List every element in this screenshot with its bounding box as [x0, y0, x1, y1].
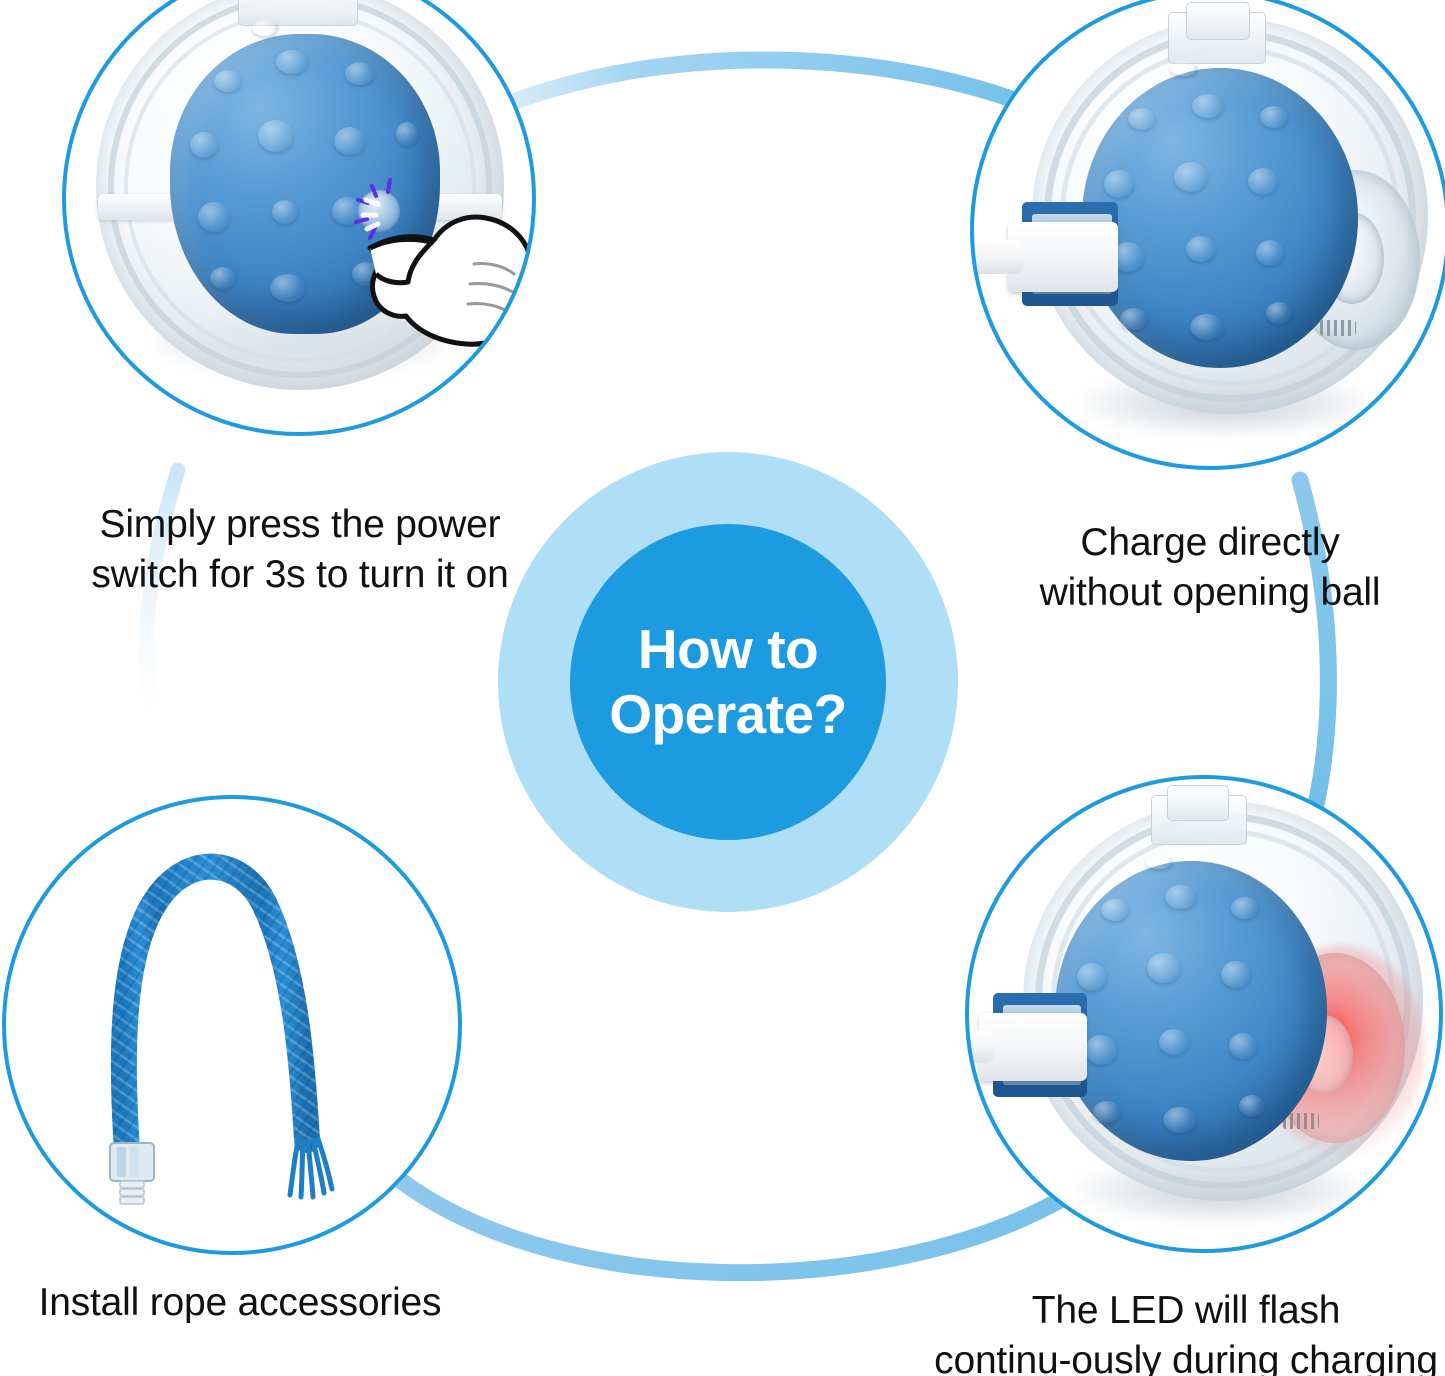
ball-bump — [1174, 162, 1208, 192]
caption-power-on: Simply press the power switch for 3s to … — [70, 500, 530, 600]
ball-bump — [214, 70, 242, 92]
photo-led-flash — [965, 775, 1443, 1253]
ball-bump — [258, 120, 294, 152]
arc-power-to-charge — [432, 60, 1085, 140]
usb-plug-icon — [1008, 222, 1118, 292]
ball-bump — [1192, 94, 1224, 118]
ball-bump — [1101, 899, 1129, 921]
usb-cable — [970, 240, 1024, 274]
how-to-operate-infographic: Simply press the power switch for 3s to … — [0, 0, 1445, 1376]
usb-cable — [965, 1031, 995, 1063]
hang-loop — [1167, 785, 1229, 821]
caption-rope: Install rope accessories — [20, 1278, 460, 1328]
ball-bump — [1229, 1033, 1257, 1059]
vent-grill — [1320, 320, 1356, 336]
ball-bump — [1239, 1095, 1265, 1117]
ball-bump — [1256, 240, 1284, 266]
ball-bump — [1147, 953, 1181, 983]
photo-power-on — [62, 0, 536, 436]
caption-led-flash: The LED will flash continu-ously during … — [930, 1286, 1442, 1376]
hub-title: How to Operate? — [609, 617, 846, 747]
ball-bump — [1104, 170, 1134, 198]
ball-bump — [1248, 168, 1278, 195]
rope-icon — [2, 795, 462, 1255]
usb-plug-icon — [979, 1013, 1087, 1081]
hub-inner-circle: How to Operate? — [570, 524, 886, 840]
ball-bump — [345, 62, 375, 85]
ball-bump — [276, 50, 308, 74]
ball-bump — [190, 132, 218, 158]
ball-bump — [1145, 855, 1173, 869]
ball-bump — [1266, 302, 1292, 324]
photo-rope — [2, 795, 462, 1255]
hang-loop — [1186, 2, 1250, 40]
ball-bump — [252, 20, 278, 36]
ball-bump — [334, 127, 366, 155]
ball-bump — [1163, 1107, 1197, 1133]
ball-bump — [1221, 961, 1251, 988]
ball-bump — [270, 274, 306, 302]
ball-bump — [1260, 106, 1288, 128]
ball-bump — [1093, 1101, 1121, 1123]
screw-connector-icon — [110, 1143, 154, 1204]
ball-bump — [1231, 897, 1259, 919]
ball-bump — [1085, 1035, 1117, 1065]
ball-bump — [1159, 1029, 1189, 1055]
pointing-hand-icon — [362, 192, 536, 372]
ball-bump — [1128, 108, 1156, 130]
ball-bump — [1186, 236, 1216, 262]
ball-bump — [1077, 963, 1107, 991]
photo-charge — [970, 0, 1445, 470]
rope-tassel — [290, 1139, 332, 1197]
ball-bump — [210, 267, 236, 289]
arc-rope-to-led — [400, 1180, 1060, 1273]
caption-charge: Charge directly without opening ball — [1000, 518, 1420, 618]
ball-bump — [1170, 62, 1198, 76]
ball-bump — [198, 202, 230, 232]
ball-bump — [1190, 314, 1224, 340]
ball-bump — [272, 200, 298, 224]
ball-bump — [396, 122, 418, 146]
ball-bump — [1120, 308, 1148, 330]
ball-bump — [1165, 885, 1197, 909]
